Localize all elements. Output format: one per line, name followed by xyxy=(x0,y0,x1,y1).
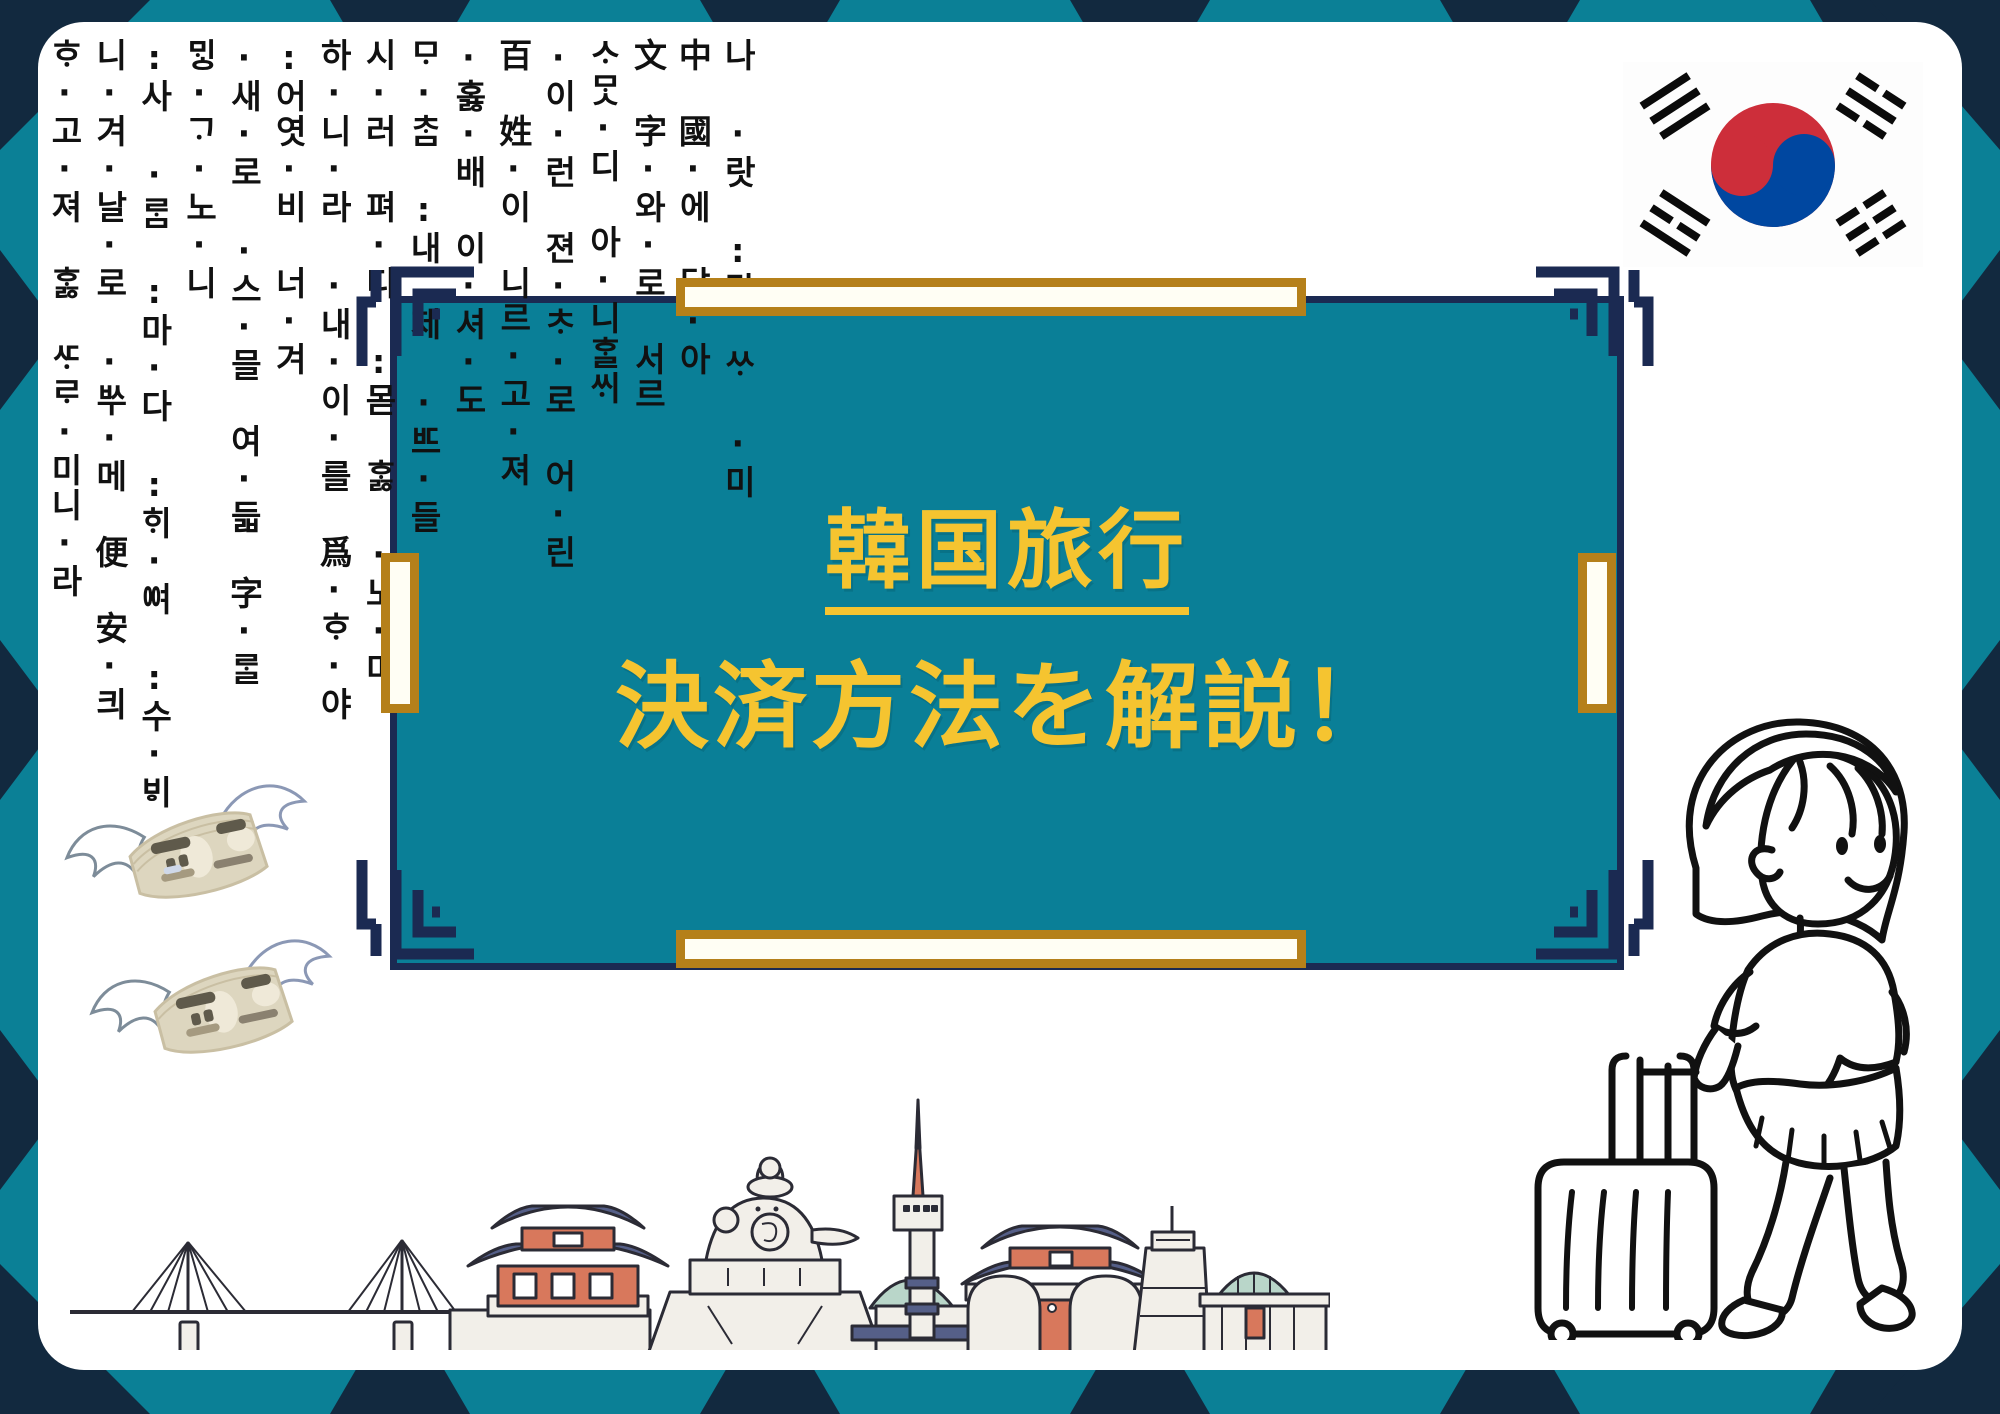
namsan-seoul-tower xyxy=(852,1100,972,1350)
hunmin-column: ᄒᆞ·고·져 ᄒᆞᇙ ᄯᆞᄅᆞ·미니·라 xyxy=(42,38,85,638)
hunmin-column: :사 ·ᄅᆞᆷ :마·다 :ᄒᆡ·ᅇᅧ :수·ᄫᅵ xyxy=(132,38,175,638)
meander-corner-top-left xyxy=(356,262,478,366)
trigram-gam-icon xyxy=(1836,72,1907,139)
hunmin-column: 百 姓·이 니르·고·져 xyxy=(491,38,534,638)
cable-bridge xyxy=(70,1240,470,1350)
traveler-girl-illustration xyxy=(1500,700,1930,1340)
heunginjimun-gate xyxy=(962,1226,1160,1350)
hunmin-column: ᄉᆞᄆᆞᆺ·디 아·니ᄒᆞᆯᄊᆡ xyxy=(581,38,624,638)
gold-bar-top xyxy=(676,278,1306,316)
trigram-geon-icon xyxy=(1640,72,1711,139)
hunmin-column: 하·니·라 ·내·이·를 爲·ᄒᆞ·야 xyxy=(311,38,354,638)
hunmin-column: ·이·런 젼·ᄎᆞ·로 어·린 xyxy=(536,38,579,638)
meander-corner-bottom-left xyxy=(356,860,478,964)
gyeongbokgung-palace xyxy=(450,1206,668,1350)
hunmin-column: 文 字·와·로 서르 xyxy=(626,38,669,638)
taeguk-red-lobe xyxy=(1711,134,1773,196)
meander-corner-top-right xyxy=(1532,262,1654,366)
hunmin-column: :어엿·비 너·겨 xyxy=(266,38,309,638)
hunmin-column: 中 國·에 달·아 xyxy=(670,38,713,638)
king-sejong-statue xyxy=(648,1158,882,1350)
hunmin-column: ᄆᆡᇰ·ᄀᆞ·노·니 xyxy=(177,38,220,638)
flying-money-illustration xyxy=(60,770,320,930)
gold-bar-right xyxy=(1578,553,1616,713)
63-building xyxy=(1134,1206,1210,1350)
trigram-gon-icon xyxy=(1836,189,1907,256)
gold-bar-left xyxy=(381,553,419,713)
gold-bar-bottom xyxy=(676,930,1306,968)
national-assembly xyxy=(1200,1272,1330,1350)
meander-corner-bottom-right xyxy=(1532,860,1654,964)
hunmin-column: 나 ·랏 :말 ᄊᆞ ·미 xyxy=(715,38,758,638)
taeguk-symbol xyxy=(1711,103,1835,227)
taeguk-blue-lobe xyxy=(1773,134,1835,196)
south-korea-flag-icon xyxy=(1623,62,1923,267)
trigram-ri-icon xyxy=(1640,189,1711,256)
hunmin-column: ·새·로 ·스·믈 여·듧 字·ᄅᆞᆯ xyxy=(222,38,265,638)
seoul-skyline-illustration xyxy=(70,1060,1330,1350)
hunmin-column: 니·겨·날·로 ·ᄡᅮ·메 便 安·킈 xyxy=(87,38,130,638)
